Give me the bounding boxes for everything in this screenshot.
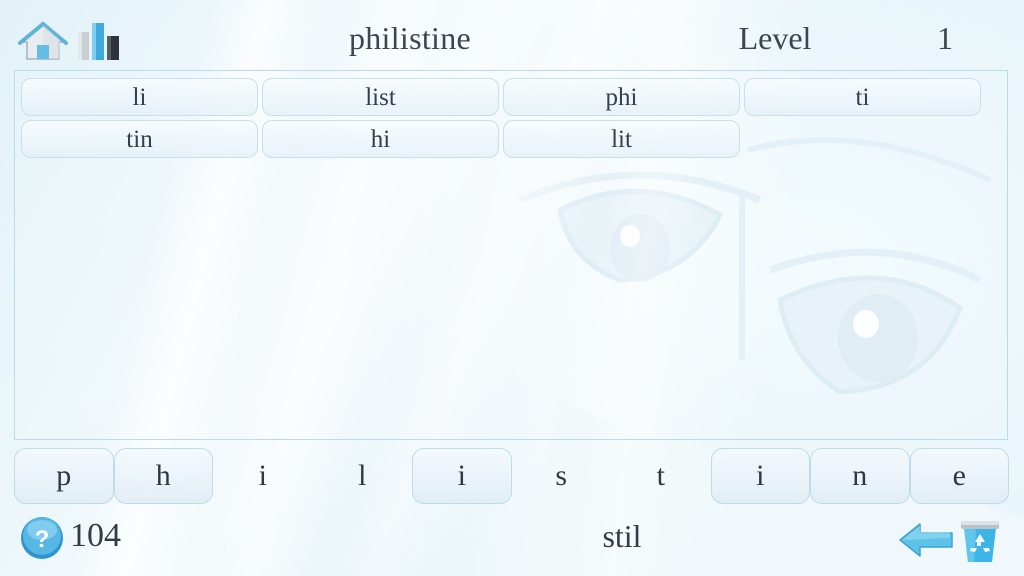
page-title: philistine [250, 20, 570, 57]
found-word-tile[interactable]: ti [744, 78, 981, 116]
back-arrow-icon[interactable] [898, 520, 954, 560]
found-word-tile[interactable]: li [21, 78, 258, 116]
found-words-panel: lilistphititinhilit [14, 70, 1008, 440]
svg-text:?: ? [35, 526, 50, 553]
found-words-list: lilistphititinhilit [15, 71, 1007, 162]
letter-tile-p[interactable]: p [14, 448, 114, 504]
score-value: 104 [70, 517, 121, 555]
level-value: 1 [890, 20, 1000, 57]
found-words-row: tinhilit [21, 120, 1001, 158]
letter-tile-i[interactable]: i [412, 448, 512, 504]
current-word: stil [432, 518, 812, 555]
found-word-tile[interactable]: list [262, 78, 499, 116]
letter-tile-s: s [512, 448, 612, 504]
found-word-tile[interactable]: lit [503, 120, 740, 158]
help-question-icon[interactable]: ? [20, 516, 64, 560]
footer-bar: ? 104 stil [0, 508, 1024, 576]
letter-tile-i[interactable]: i [711, 448, 811, 504]
level-label: Level [700, 20, 850, 57]
found-word-tile[interactable]: hi [262, 120, 499, 158]
header-bar: philistine Level 1 [0, 0, 1024, 68]
letter-tile-e[interactable]: e [910, 448, 1010, 504]
bar-chart-icon[interactable] [76, 20, 122, 62]
found-words-row: lilistphiti [21, 78, 1001, 116]
letter-tile-i: i [213, 448, 313, 504]
letter-tile-l: l [313, 448, 413, 504]
game-screen: philistine Level 1 lilistphititinhilit p… [0, 0, 1024, 576]
letter-rack: philistine [14, 448, 1010, 504]
letter-tile-t: t [611, 448, 711, 504]
letter-tile-n[interactable]: n [810, 448, 910, 504]
found-word-tile[interactable]: phi [503, 78, 740, 116]
recycle-bin-icon[interactable] [958, 518, 1002, 564]
found-word-tile[interactable]: tin [21, 120, 258, 158]
letter-tile-h[interactable]: h [114, 448, 214, 504]
home-icon[interactable] [18, 20, 68, 62]
